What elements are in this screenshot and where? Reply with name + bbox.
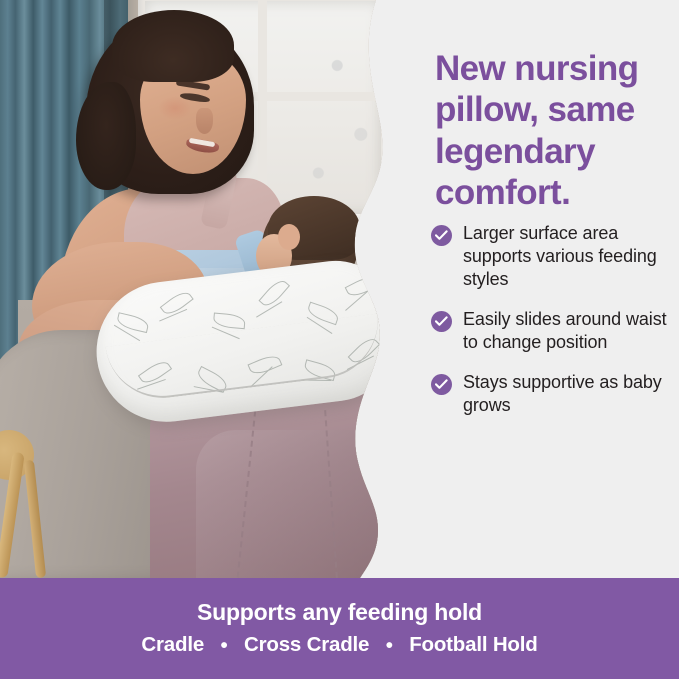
- benefit-item: Stays supportive as baby grows: [431, 371, 671, 417]
- separator-dot: •: [221, 634, 228, 658]
- benefit-list: Larger surface area supports various fee…: [431, 222, 671, 434]
- headline: New nursing pillow, same legendary comfo…: [435, 48, 663, 213]
- baby-ear: [278, 224, 300, 250]
- benefit-text: Easily slides around waist to change pos…: [463, 308, 671, 354]
- check-circle-icon: [431, 225, 452, 246]
- hold-cross-cradle: Cross Cradle: [244, 633, 369, 656]
- benefit-item: Larger surface area supports various fee…: [431, 222, 671, 291]
- benefit-text: Stays supportive as baby grows: [463, 371, 671, 417]
- mother-hair-curl: [76, 82, 136, 190]
- text-panel: New nursing pillow, same legendary comfo…: [376, 0, 679, 578]
- lifestyle-photo: [0, 0, 400, 578]
- benefit-text: Larger surface area supports various fee…: [463, 222, 671, 291]
- check-circle-icon: [431, 374, 452, 395]
- hold-football: Football Hold: [409, 633, 537, 656]
- banner-holds: Cradle • Cross Cradle • Football Hold: [141, 633, 537, 658]
- mother-pants-fold: [196, 430, 396, 578]
- photo-wave-clip: [0, 0, 400, 578]
- mother-nose: [196, 108, 213, 134]
- hold-cradle: Cradle: [141, 633, 204, 656]
- feeding-hold-banner: Supports any feeding hold Cradle • Cross…: [0, 578, 679, 679]
- check-circle-icon: [431, 311, 452, 332]
- mother-hair-top: [112, 10, 234, 82]
- banner-title: Supports any feeding hold: [197, 599, 482, 626]
- product-feature-card: New nursing pillow, same legendary comfo…: [0, 0, 679, 679]
- benefit-item: Easily slides around waist to change pos…: [431, 308, 671, 354]
- separator-dot: •: [386, 634, 393, 658]
